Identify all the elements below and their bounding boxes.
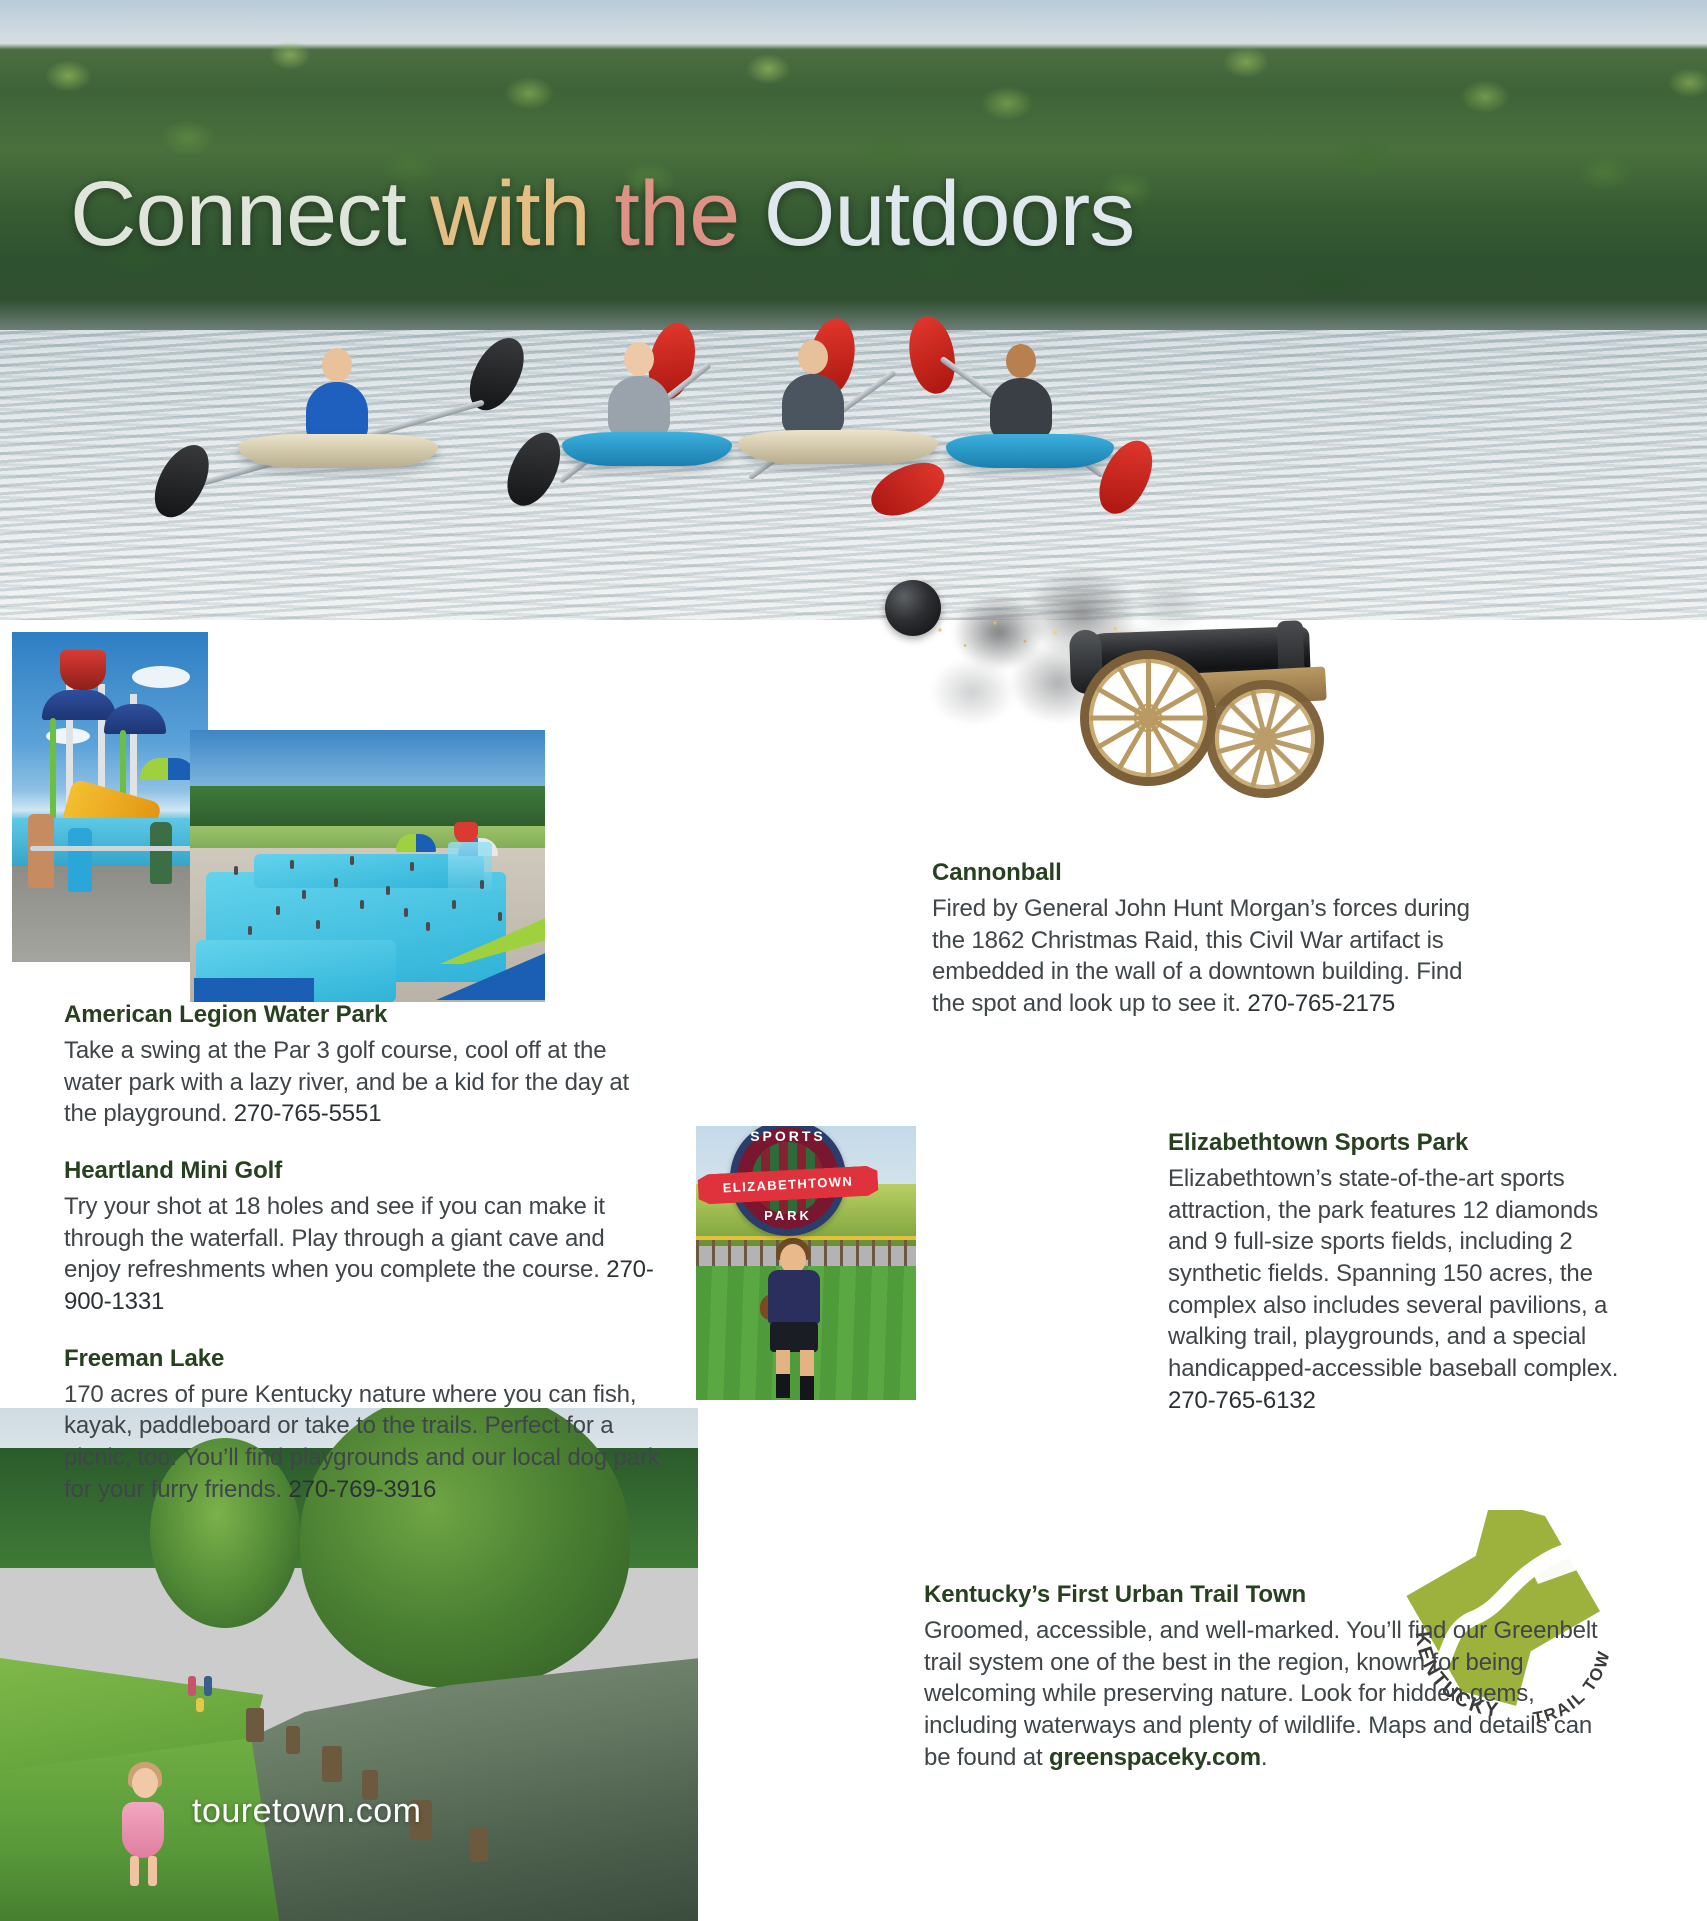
person-figure <box>28 814 54 888</box>
section-american-legion-water-park: American Legion Water Park Take a swing … <box>64 1000 664 1130</box>
section-kentucky-first-urban-trail-town: Kentucky’s First Urban Trail Town Groome… <box>924 1580 1604 1773</box>
title-word-outdoors: Outdoors <box>764 163 1134 265</box>
kayaker-head <box>322 348 352 382</box>
cannonball-icon <box>885 580 941 636</box>
cannon-wheel-small <box>1206 680 1324 798</box>
magazine-page: Connect with the Outdoors <box>0 0 1707 1921</box>
photo-splash-pad <box>12 632 208 962</box>
person-figure <box>150 822 172 884</box>
kayak-hull <box>946 434 1114 468</box>
phone-number[interactable]: 270-765-6132 <box>1168 1387 1316 1414</box>
section-heading: Freeman Lake <box>64 1344 664 1374</box>
left-text-column: American Legion Water Park Take a swing … <box>64 1000 664 1505</box>
body-text: Try your shot at 18 holes and see if you… <box>64 1193 606 1283</box>
kayak-hull <box>238 434 438 468</box>
title-word-connect: Connect <box>70 163 406 265</box>
kayaker-head <box>1006 344 1036 378</box>
person-figure <box>196 1698 204 1712</box>
section-freeman-lake: Freeman Lake 170 acres of pure Kentucky … <box>64 1344 664 1506</box>
watermark-part2: town.com <box>272 1792 422 1830</box>
title-word-with: with <box>430 163 590 265</box>
logo-arc-bottom: PARK <box>730 1208 846 1223</box>
person-figure <box>204 1676 212 1696</box>
section-heading: American Legion Water Park <box>64 1000 664 1030</box>
website-link[interactable]: greenspaceky.com <box>1049 1744 1261 1771</box>
section-heading: Heartland Mini Golf <box>64 1156 664 1186</box>
section-body: Try your shot at 18 holes and see if you… <box>64 1191 664 1318</box>
cannon-wheel-large <box>1080 650 1216 786</box>
watermark-touretown: touretown.com <box>192 1792 422 1831</box>
kayaker-head <box>798 340 828 374</box>
hero-photo-kayakers: Connect with the Outdoors <box>0 0 1707 620</box>
phone-number[interactable]: 270-765-5551 <box>234 1100 382 1127</box>
section-heartland-mini-golf: Heartland Mini Golf Try your shot at 18 … <box>64 1156 664 1318</box>
body-text: Elizabethtown’s state-of-the-art sports … <box>1168 1165 1618 1382</box>
section-heading: Elizabethtown Sports Park <box>1168 1128 1628 1158</box>
phone-number[interactable]: 270-769-3916 <box>288 1476 436 1503</box>
section-body: Fired by General John Hunt Morgan’s forc… <box>932 893 1492 1020</box>
section-cannonball: Cannonball Fired by General John Hunt Mo… <box>932 858 1492 1020</box>
title-word-the: the <box>614 163 739 265</box>
section-body: Elizabethtown’s state-of-the-art sports … <box>1168 1163 1628 1416</box>
photo-elizabethtown-sports-park: SPORTS PARK ELIZABETHTOWN <box>696 1126 916 1400</box>
section-body: Take a swing at the Par 3 golf course, c… <box>64 1035 664 1130</box>
section-body: Groomed, accessible, and well-marked. Yo… <box>924 1615 1604 1773</box>
section-body: 170 acres of pure Kentucky nature where … <box>64 1379 664 1506</box>
section-heading: Kentucky’s First Urban Trail Town <box>924 1580 1604 1610</box>
kayak-hull <box>738 430 938 464</box>
phone-number[interactable]: 270-765-2175 <box>1247 990 1395 1017</box>
watermark-part1: toure <box>192 1792 272 1830</box>
photo-american-legion-water-park <box>190 730 545 1002</box>
kayak-hull <box>562 432 732 466</box>
person-figure <box>68 828 92 892</box>
logo-arc-top: SPORTS <box>730 1128 846 1144</box>
child-figure <box>122 1802 164 1858</box>
section-heading: Cannonball <box>932 858 1492 888</box>
section-elizabethtown-sports-park: Elizabethtown Sports Park Elizabethtown’… <box>1168 1128 1628 1416</box>
page-title: Connect with the Outdoors <box>70 168 1390 260</box>
kayaker-torso <box>608 376 670 438</box>
kayaker-torso <box>782 374 844 436</box>
person-figure <box>188 1676 196 1696</box>
body-text-end: . <box>1261 1744 1268 1771</box>
lake-water <box>0 330 1707 620</box>
kayaker-head <box>624 342 654 376</box>
kayaker-torso <box>990 378 1052 440</box>
